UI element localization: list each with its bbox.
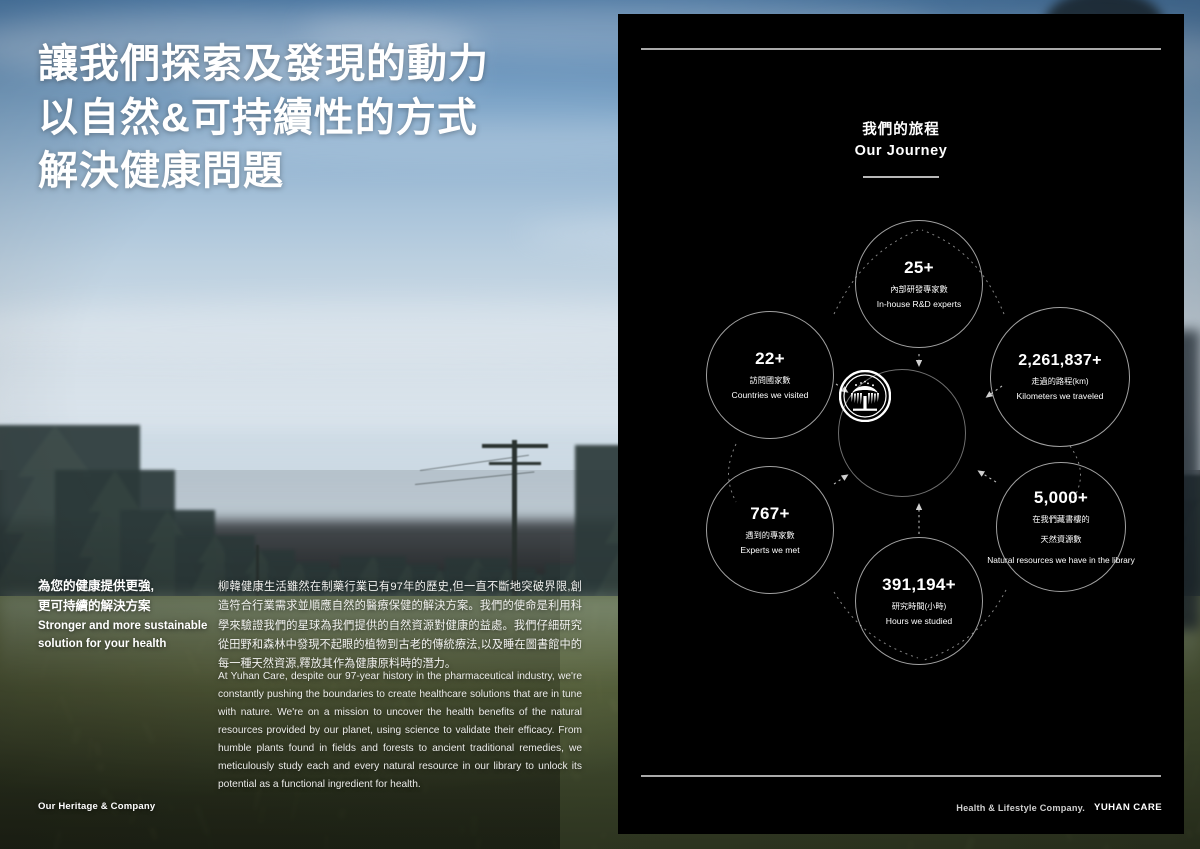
stat-label-zh: 在我們藏書樓的 (1032, 514, 1089, 526)
stat-label-zh: 遇到的專家數 (745, 530, 794, 542)
subheadline-en: Stronger and more sustainable solution f… (38, 620, 207, 651)
stat-value: 5,000+ (1034, 488, 1088, 508)
stat-value: 25+ (904, 258, 934, 278)
panel-footer: Health & Lifestyle Company. YUHAN CARE (956, 802, 1162, 813)
stat-label-zh: 研究時間(小時) (892, 601, 947, 613)
stat-label-zh-line-2: 天然資源數 (1041, 534, 1082, 546)
stat-value: 767+ (750, 504, 790, 524)
stat-label-zh: 訪問國家數 (750, 375, 791, 387)
footer-tagline: Health & Lifestyle Company. (956, 803, 1085, 813)
stat-node-hours-studied[interactable]: 391,194+ 研究時間(小時) Hours we studied (855, 537, 983, 665)
stat-node-rd-experts[interactable]: 25+ 內部研發專家數 In-house R&D experts (855, 220, 983, 348)
page-headline: 讓我們探索及發現的動力 以自然&可持續性的方式 解決健康問題 (38, 38, 578, 199)
headline-line-2: 以自然&可持續性的方式 (38, 92, 578, 146)
subheadline: 為您的健康提供更強, 更可持續的解決方案 Stronger and more s… (38, 576, 214, 654)
stat-node-countries-visited[interactable]: 22+ 訪問國家數 Countries we visited (706, 311, 834, 439)
stat-label-en: Countries we visited (732, 390, 809, 401)
stat-value: 391,194+ (882, 575, 956, 595)
journey-diagram: 25+ 內部研發專家數 In-house R&D experts 22+ 訪問國… (618, 14, 1184, 834)
center-hub (838, 369, 966, 497)
stat-label-en: Hours we studied (886, 616, 952, 627)
stat-label-en: Kilometers we traveled (1017, 391, 1104, 402)
stat-label-zh: 內部研發專家數 (890, 284, 947, 296)
body-paragraph-zh: 柳韓健康生活雖然在制藥行業已有97年的歷史,但一直不斷地突破界限,創造符合行業需… (218, 578, 582, 674)
stat-value: 2,261,837+ (1018, 352, 1102, 370)
stat-node-kilometers-traveled[interactable]: 2,261,837+ 走過的路程(km) Kilometers we trave… (990, 307, 1130, 447)
stat-label-en: In-house R&D experts (877, 299, 962, 310)
body-paragraph-en: At Yuhan Care, despite our 97-year histo… (218, 668, 582, 794)
journey-panel: 我們的旅程 Our Journey (618, 14, 1184, 834)
willow-tree-emblem-icon (876, 407, 928, 459)
stat-label-en: Experts we met (740, 545, 799, 556)
subheadline-zh-line-2: 更可持續的解決方案 (38, 596, 214, 616)
stat-node-experts-met[interactable]: 767+ 遇到的專家數 Experts we met (706, 466, 834, 594)
stat-node-natural-resources[interactable]: 5,000+ 在我們藏書樓的 天然資源數 Natural resources w… (996, 462, 1126, 592)
headline-line-3: 解決健康問題 (38, 145, 578, 199)
stat-value: 22+ (755, 349, 785, 369)
headline-line-1: 讓我們探索及發現的動力 (38, 38, 578, 92)
stat-label-zh: 走過的路程(km) (1031, 376, 1088, 388)
subheadline-zh-line-1: 為您的健康提供更強, (38, 576, 214, 596)
footer-section-label: Our Heritage & Company (38, 801, 155, 812)
stat-label-en: Natural resources we have in the library (986, 555, 1136, 566)
brand-logo: YUHAN CARE (1094, 802, 1162, 813)
